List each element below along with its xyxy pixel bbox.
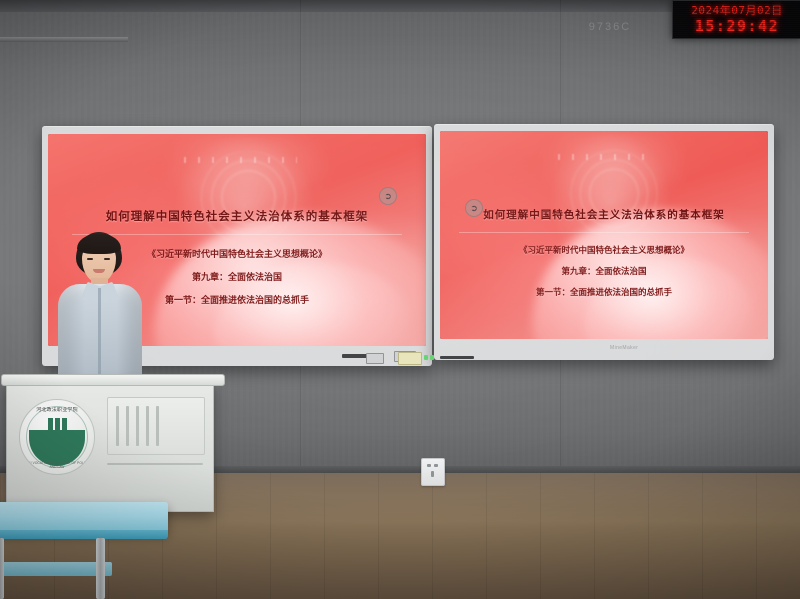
board-usb-port[interactable] bbox=[366, 353, 384, 364]
student-desk-edge bbox=[0, 530, 168, 539]
board-vent-strip bbox=[440, 356, 474, 359]
slide-content-right: 如何理解中国特色社会主义法治体系的基本框架 《习近平新时代中国特色社会主义思想概… bbox=[440, 131, 768, 339]
emblem-text-top: 河北政法职业学院 bbox=[20, 406, 94, 412]
right-board-screen[interactable]: ➲ 如何理解中国特色社会主义法治体系的基本框架 《习近平新时代中国特色社会主义思… bbox=[440, 131, 768, 339]
slide-section: 第一节：全面推进依法治国的总抓手 bbox=[536, 286, 672, 298]
presenter-eye-left bbox=[87, 258, 93, 260]
lectern-slot-5 bbox=[156, 406, 159, 446]
emblem-bar-2 bbox=[55, 418, 60, 460]
interactive-whiteboard-right[interactable]: ➲ 如何理解中国特色社会主义法治体系的基本框架 《习近平新时代中国特色社会主义思… bbox=[434, 124, 774, 360]
clock-mount bbox=[0, 37, 128, 42]
lectern-slot-2 bbox=[126, 406, 129, 446]
lectern-control-panel[interactable] bbox=[107, 397, 205, 455]
lectern-slot-1 bbox=[116, 406, 119, 446]
right-board-panel[interactable]: ➲ 如何理解中国特色社会主义法治体系的基本框架 《习近平新时代中国特色社会主义思… bbox=[440, 131, 768, 339]
slide-section: 第一节：全面推进依法治国的总抓手 bbox=[165, 293, 309, 306]
lectern[interactable]: 河北政法职业学院 HEBEI VOCATIONAL COLLEGE OF POL… bbox=[6, 380, 214, 512]
slide-title: 如何理解中国特色社会主义法治体系的基本框架 bbox=[106, 208, 369, 224]
outlet-slot-1 bbox=[427, 464, 431, 467]
lectern-top-surface bbox=[1, 374, 225, 386]
outlet-slot-3 bbox=[431, 471, 434, 477]
board-power-led bbox=[424, 355, 428, 360]
wall-faint-text: 9736C bbox=[560, 17, 660, 37]
slide-divider bbox=[459, 232, 749, 233]
presenter bbox=[58, 232, 142, 392]
right-board-brand: MineMaker bbox=[610, 345, 638, 351]
board-label-tag bbox=[398, 352, 422, 365]
classroom-scene: 9736C 2024年07月02日 15:29:42 ➲ 如何理解中国特色社会主… bbox=[0, 0, 800, 599]
board-status-led bbox=[430, 355, 434, 360]
emblem-bar-3 bbox=[62, 418, 67, 460]
lectern-slot-4 bbox=[146, 406, 149, 446]
slide-title: 如何理解中国特色社会主义法治体系的基本框架 bbox=[483, 207, 725, 222]
lectern-slot-3 bbox=[136, 406, 139, 446]
student-desk-leg-right bbox=[96, 538, 105, 599]
student-desk-leg-left bbox=[0, 538, 4, 599]
presenter-fringe bbox=[77, 234, 121, 254]
clock-time: 15:29:42 bbox=[673, 18, 800, 35]
presenter-eye-right bbox=[104, 258, 110, 260]
emblem-text-bottom: HEBEI VOCATIONAL COLLEGE OF POLITICS AND… bbox=[20, 461, 94, 469]
slide-chapter: 第九章：全面依法治国 bbox=[561, 265, 646, 277]
slide-course: 《习近平新时代中国特色社会主义思想概论》 bbox=[519, 244, 689, 256]
lectern-seam bbox=[107, 463, 203, 465]
emblem-bar-1 bbox=[48, 418, 53, 460]
outlet-slot-2 bbox=[434, 464, 438, 467]
slide-chapter: 第九章：全面依法治国 bbox=[192, 270, 282, 283]
slide-course: 《习近平新时代中国特色社会主义思想概论》 bbox=[147, 247, 327, 260]
led-wall-clock: 2024年07月02日 15:29:42 bbox=[672, 0, 800, 39]
wall-power-outlet[interactable] bbox=[421, 458, 445, 486]
clock-date: 2024年07月02日 bbox=[673, 1, 800, 18]
school-emblem: 河北政法职业学院 HEBEI VOCATIONAL COLLEGE OF POL… bbox=[19, 399, 95, 475]
